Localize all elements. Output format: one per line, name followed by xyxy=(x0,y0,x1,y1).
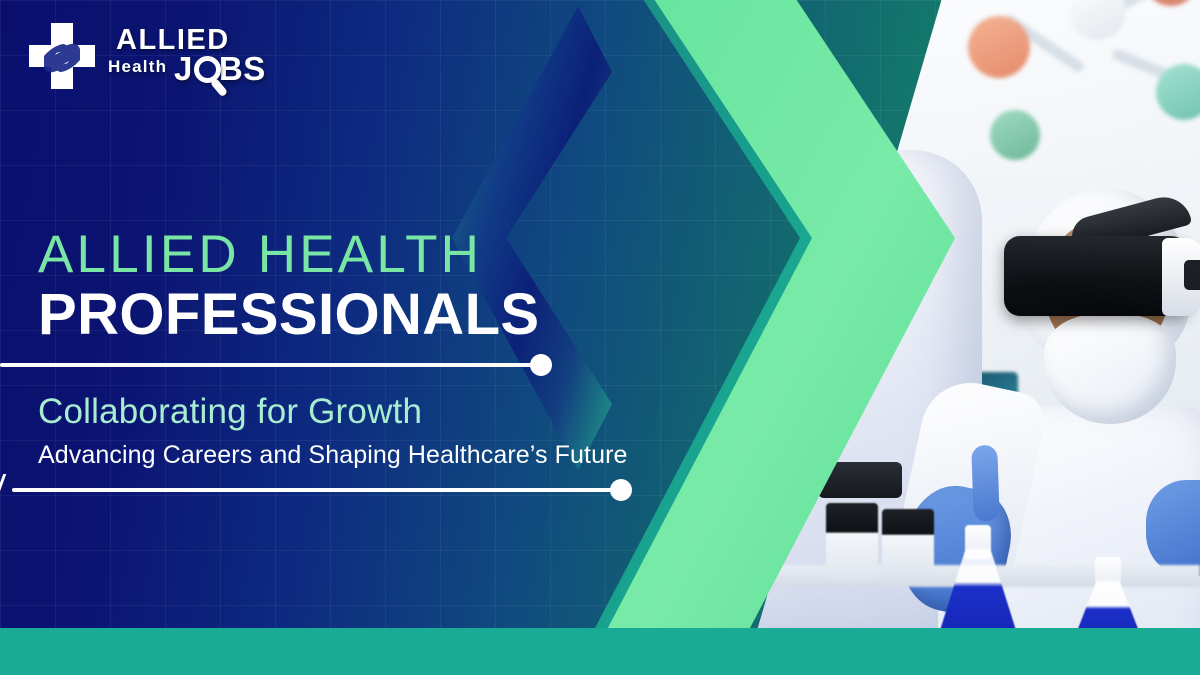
brand-jobs-j: J xyxy=(174,50,193,87)
brand-wordmark: ALLIED Health JBS xyxy=(108,24,278,100)
divider-line-bottom xyxy=(0,474,650,500)
medical-cross-hands-icon xyxy=(24,20,100,96)
brand-jobs-bs: BS xyxy=(219,50,266,87)
divider-dot xyxy=(530,354,552,376)
brand-health-text: Health xyxy=(108,57,167,77)
headline-block: ALLIED HEALTH PROFESSIONALS xyxy=(38,228,678,346)
divider-bar xyxy=(0,363,545,367)
tagline-secondary: Advancing Careers and Shaping Healthcare… xyxy=(38,441,628,470)
tagline-primary: Collaborating for Growth xyxy=(38,392,422,432)
divider-bar xyxy=(12,488,624,492)
promo-banner: ALLIED Health JBS ALLIED HEALTH PROFESSI… xyxy=(0,0,1200,675)
headline-line-2: PROFESSIONALS xyxy=(38,284,678,345)
headline-line-1: ALLIED HEALTH xyxy=(38,228,678,282)
bottom-accent-bar xyxy=(0,628,1200,675)
brand-logo[interactable]: ALLIED Health JBS xyxy=(24,14,264,104)
divider-line-top xyxy=(0,363,556,367)
divider-dot xyxy=(610,479,632,501)
